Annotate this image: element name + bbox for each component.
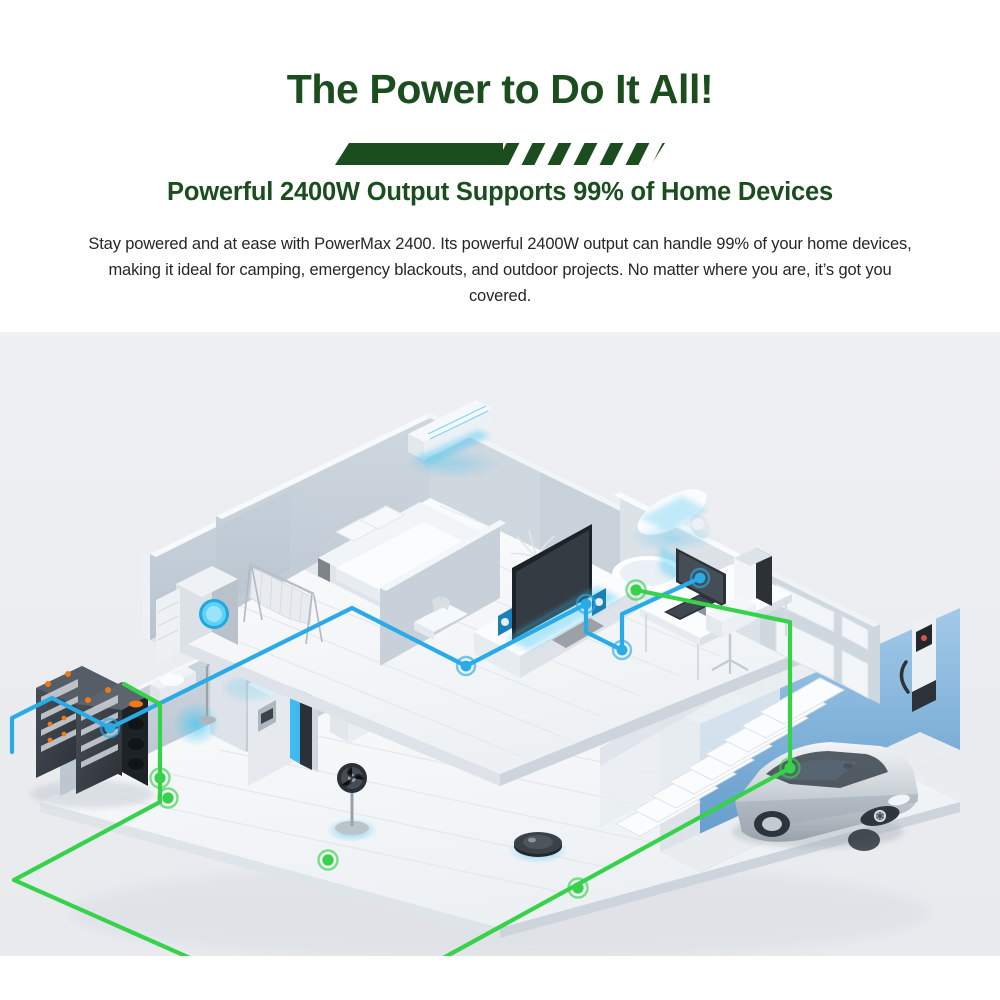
body-paragraph: Stay powered and at ease with PowerMax 2… xyxy=(88,231,912,309)
footer-whitespace xyxy=(0,956,1000,1000)
header-section: The Power to Do It All! xyxy=(0,0,1000,332)
shelving-unit xyxy=(156,588,180,664)
striped-parallelogram-divider-icon xyxy=(335,140,665,168)
isometric-cutaway-smart-home-illustration xyxy=(0,332,1000,956)
section-subtitle: Powerful 2400W Output Supports 99% of Ho… xyxy=(0,178,1000,207)
product-feature-page: The Power to Do It All! xyxy=(0,0,1000,1000)
page-title: The Power to Do It All! xyxy=(0,66,1000,113)
illustration-section xyxy=(0,332,1000,956)
divider xyxy=(0,138,1000,170)
